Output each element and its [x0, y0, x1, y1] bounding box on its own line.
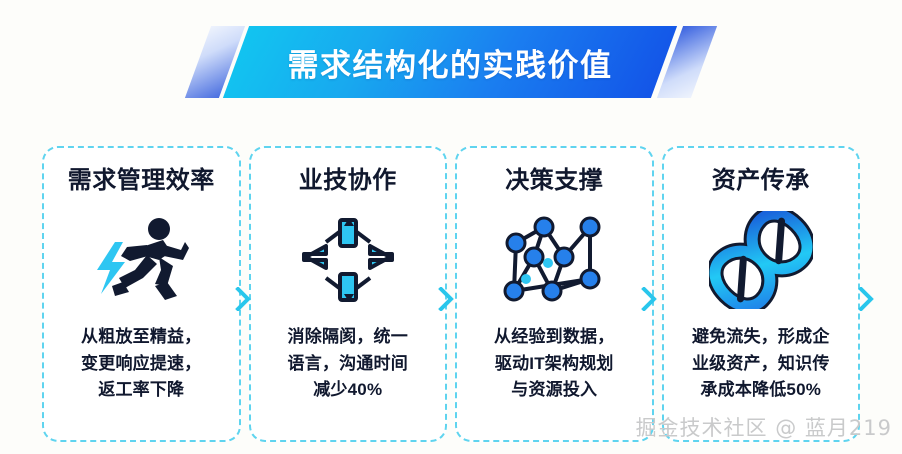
card-title: 需求管理效率 — [68, 168, 215, 194]
chevron-right-icon — [641, 287, 657, 311]
card-description: 从粗放至精益，变更响应提速，返工率下降 — [81, 324, 201, 403]
infinity-dna-icon — [702, 208, 820, 312]
four-direction-arrows-icon — [289, 208, 407, 312]
card-business-tech-collaboration[interactable]: 业技协作 消除隔阂，统 — [249, 146, 448, 442]
card-description: 避免流失，形成企业级资产，知识传承成本降低50% — [692, 324, 830, 403]
running-person-lightning-icon — [82, 208, 200, 312]
title-banner: 需求结构化的实践价值 — [0, 26, 902, 98]
watermark: 掘金技术社区 @ 蓝月219 — [636, 412, 892, 442]
chevron-right-icon — [858, 287, 874, 311]
chevron-right-icon — [438, 287, 454, 311]
card-decision-support[interactable]: 决策支撑 — [455, 146, 654, 442]
card-description: 消除隔阂，统一语言，沟通时间减少40% — [288, 324, 408, 403]
card-asset-inheritance[interactable]: 资产传承 避免流失，形成企业级资产， — [662, 146, 861, 442]
card-title: 资产传承 — [712, 168, 810, 194]
network-graph-nodes-icon — [495, 208, 613, 312]
page-title: 需求结构化的实践价值 — [236, 26, 664, 98]
chevron-right-icon — [235, 287, 251, 311]
card-demand-management-efficiency[interactable]: 需求管理效率 从粗放 — [42, 146, 241, 442]
card-description: 从经验到数据，驱动IT架构规划与资源投入 — [494, 324, 614, 403]
card-title: 业技协作 — [299, 168, 397, 194]
card-title: 决策支撑 — [505, 168, 603, 194]
